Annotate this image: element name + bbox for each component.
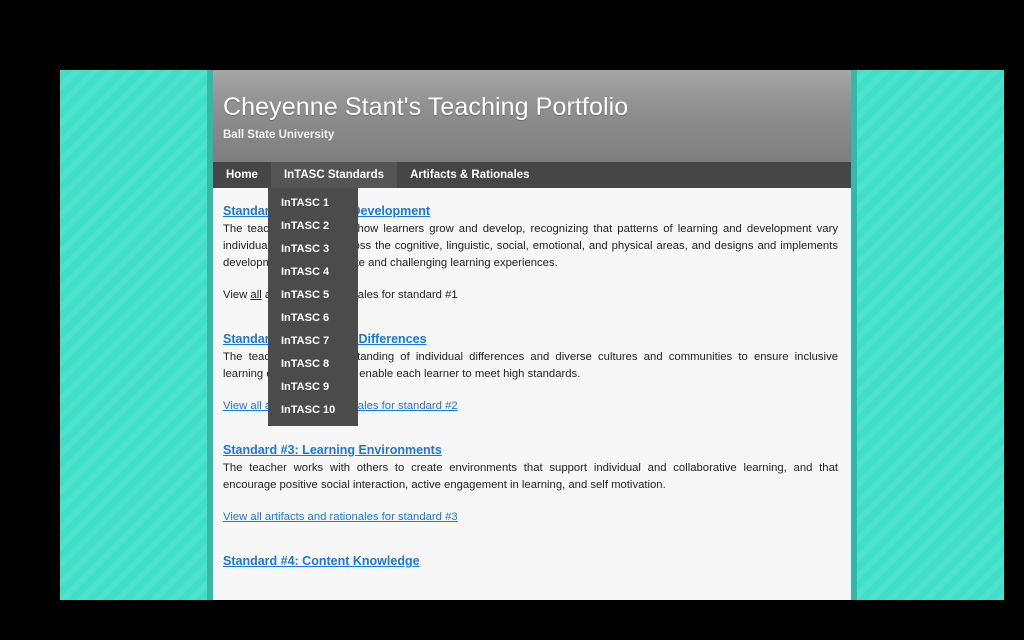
nav-item-home[interactable]: Home: [213, 162, 271, 188]
standard-1-link-underlined-word: all: [250, 289, 261, 301]
dropdown-item-intasc-6[interactable]: InTASC 6: [268, 307, 358, 330]
dropdown-item-intasc-1[interactable]: InTASC 1: [268, 192, 358, 215]
nav-item-intasc-standards[interactable]: InTASC Standards: [271, 162, 397, 188]
dropdown-item-intasc-7[interactable]: InTASC 7: [268, 330, 358, 353]
intasc-standards-dropdown-menu: InTASC 1 InTASC 2 InTASC 3 InTASC 4 InTA…: [268, 188, 358, 426]
dropdown-item-intasc-8[interactable]: InTASC 8: [268, 353, 358, 376]
dropdown-item-intasc-4[interactable]: InTASC 4: [268, 261, 358, 284]
standard-block-4: Standard #4: Content Knowledge: [223, 552, 838, 571]
dropdown-item-intasc-5[interactable]: InTASC 5: [268, 284, 358, 307]
dropdown-item-intasc-2[interactable]: InTASC 2: [268, 215, 358, 238]
standard-block-3: Standard #3: Learning Environments The t…: [223, 441, 838, 525]
dropdown-item-intasc-3[interactable]: InTASC 3: [268, 238, 358, 261]
screenshot-canvas: Cheyenne Stant's Teaching Portfolio Ball…: [0, 0, 1024, 640]
site-header: Cheyenne Stant's Teaching Portfolio Ball…: [213, 70, 851, 162]
standard-3-description: The teacher works with others to create …: [223, 460, 838, 494]
site-container: Cheyenne Stant's Teaching Portfolio Ball…: [213, 70, 851, 600]
content-rail-right: [851, 70, 857, 600]
standard-4-title-link[interactable]: Standard #4: Content Knowledge: [223, 554, 420, 568]
dropdown-item-intasc-10[interactable]: InTASC 10: [268, 399, 358, 422]
standard-1-link-prefix: View: [223, 289, 250, 301]
standard-3-artifacts-link[interactable]: View all artifacts and rationales for st…: [223, 511, 458, 523]
standard-3-title-link[interactable]: Standard #3: Learning Environments: [223, 443, 442, 457]
main-navigation: Home InTASC Standards Artifacts & Ration…: [213, 162, 851, 188]
nav-item-artifacts-rationales[interactable]: Artifacts & Rationales: [397, 162, 543, 188]
page-title: Cheyenne Stant's Teaching Portfolio: [223, 92, 851, 122]
dropdown-item-intasc-9[interactable]: InTASC 9: [268, 376, 358, 399]
site-subtitle: Ball State University: [223, 129, 851, 141]
